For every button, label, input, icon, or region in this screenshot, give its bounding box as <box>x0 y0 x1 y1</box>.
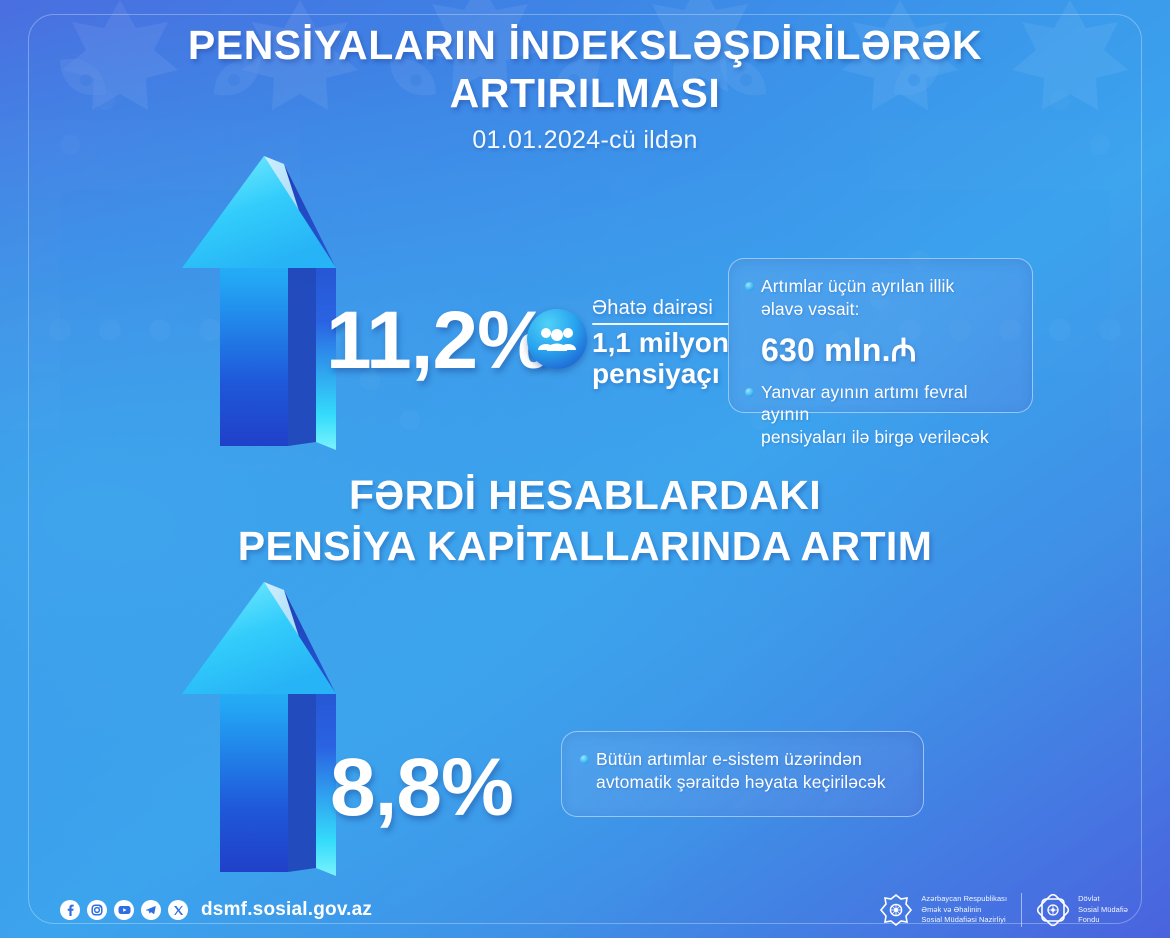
bullet-text-line-2: əlavə vəsait: <box>761 299 860 319</box>
info-box-bottom: Bütün artımlar e-sistem üzərindən avtoma… <box>561 731 924 817</box>
x-twitter-icon[interactable] <box>168 900 188 920</box>
infographic-poster: PENSİYALARIN İNDEKSLƏŞDİRİLƏRƏK ARTIRILM… <box>0 0 1170 938</box>
bullet-dot-icon <box>580 755 589 764</box>
website-url[interactable]: dsmf.sosial.gov.az <box>201 899 372 921</box>
info-bullet-annual-funds: Artımlar üçün ayrılan illik əlavə vəsait… <box>745 275 1014 321</box>
fund-logo-line-1: Dövlət <box>1078 894 1128 905</box>
bullet-dot-icon <box>745 388 754 397</box>
coverage-caption: Əhatə dairəsi <box>592 297 729 320</box>
ministry-logo-line-2: Əmək və Əhalinin <box>921 905 1007 916</box>
coverage-unit: pensiyaçı <box>592 358 729 389</box>
ministry-logo: Azərbaycan Respublikası Əmək və Əhalinin… <box>879 893 1007 927</box>
instagram-icon[interactable] <box>87 900 107 920</box>
people-group-icon <box>527 309 587 369</box>
percent-value-bottom: 8,8% <box>330 741 513 835</box>
amount-value: 630 mln.₼ <box>761 328 1014 371</box>
ministry-logo-line-1: Azərbaycan Respublikası <box>921 894 1007 905</box>
info-box-top: Artımlar üçün ayrılan illik əlavə vəsait… <box>728 258 1033 413</box>
footer-social-bar: dsmf.sosial.gov.az <box>60 899 372 921</box>
coverage-divider <box>592 323 729 325</box>
bullet-text-line-2: pensiyaları ilə birgə veriləcək <box>761 427 989 447</box>
bullet-text-line-1: Artımlar üçün ayrılan illik <box>761 276 954 296</box>
logo-divider <box>1021 893 1022 927</box>
ministry-emblem-icon <box>879 893 913 927</box>
youtube-icon[interactable] <box>114 900 134 920</box>
header: PENSİYALARIN İNDEKSLƏŞDİRİLƏRƏK ARTIRILM… <box>0 22 1170 155</box>
title-line-1: PENSİYALARIN İNDEKSLƏŞDİRİLƏRƏK <box>120 22 1050 70</box>
info-bullet-esystem: Bütün artımlar e-sistem üzərindən avtoma… <box>580 748 905 794</box>
fund-emblem-icon <box>1036 893 1070 927</box>
up-arrow-3d-icon-bottom <box>176 576 352 888</box>
facebook-icon[interactable] <box>60 900 80 920</box>
bullet-text-line-1: Yanvar ayının artımı fevral ayının <box>761 382 968 425</box>
section-heading-line-1: FƏRDİ HESABLARDAKI <box>0 470 1170 521</box>
bullet-dot-icon <box>745 282 754 291</box>
fund-logo-line-3: Fondu <box>1078 915 1128 926</box>
footer-logos: Azərbaycan Respublikası Əmək və Əhalinin… <box>879 893 1128 927</box>
title-line-2: ARTIRILMASI <box>120 70 1050 118</box>
coverage-block: Əhatə dairəsi 1,1 milyon pensiyaçı <box>592 297 729 390</box>
section-heading-line-2: PENSİYA KAPİTALLARINDA ARTIM <box>0 521 1170 572</box>
fund-logo-line-2: Sosial Müdafiə <box>1078 905 1128 916</box>
fund-logo: Dövlət Sosial Müdafiə Fondu <box>1036 893 1128 927</box>
coverage-value: 1,1 milyon <box>592 327 729 358</box>
ministry-logo-line-3: Sosial Müdafiəsi Nazirliyi <box>921 915 1007 926</box>
bullet-text-line-2: avtomatik şəraitdə həyata keçiriləcək <box>596 772 886 792</box>
bullet-text-line-1: Bütün artımlar e-sistem üzərindən <box>596 749 862 769</box>
page-title: PENSİYALARIN İNDEKSLƏŞDİRİLƏRƏK ARTIRILM… <box>0 22 1170 117</box>
section-heading: FƏRDİ HESABLARDAKI PENSİYA KAPİTALLARIND… <box>0 470 1170 573</box>
telegram-icon[interactable] <box>141 900 161 920</box>
percent-value-top: 11,2% <box>326 294 549 388</box>
info-bullet-january-payment: Yanvar ayının artımı fevral ayının pensi… <box>745 381 1014 449</box>
